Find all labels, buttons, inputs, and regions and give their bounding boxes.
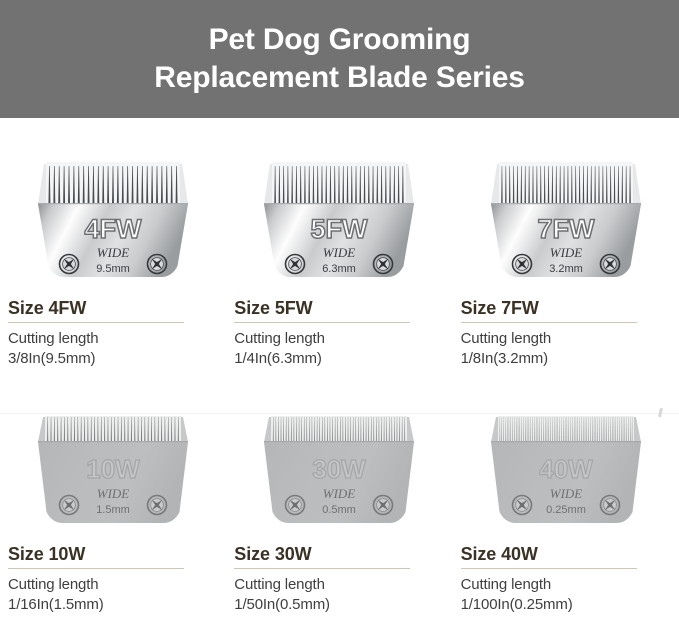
- blade-screw-icon: [60, 496, 79, 515]
- blade-teeth: [45, 416, 181, 441]
- product-caption-2: Size 7FW Cutting length 1/8In(3.2mm): [453, 298, 679, 368]
- blade-screw-icon: [148, 255, 167, 274]
- product-card-1[interactable]: 5FWWIDE6.3mm Size 5FW Cutting length 1/4…: [226, 152, 452, 368]
- blade-illustration-5FW: 5FWWIDE6.3mm: [254, 152, 424, 287]
- blade-engraving-mm: 0.5mm: [323, 504, 357, 516]
- product-row-bottom: 10WWIDE1.5mm Size 10W Cutting length 1/1…: [0, 398, 679, 614]
- product-card-2[interactable]: 7FWWIDE3.2mm Size 7FW Cutting length 1/8…: [453, 152, 679, 368]
- blade-image-3: 10WWIDE1.5mm: [28, 398, 198, 533]
- caption-divider-0: [8, 322, 184, 323]
- product-row-top: 4FWWIDE9.5mm Size 4FW Cutting length 3/8…: [0, 152, 679, 368]
- header-banner: Pet Dog Grooming Replacement Blade Serie…: [0, 0, 679, 118]
- blade-engraving-mm: 3.2mm: [549, 263, 583, 275]
- blade-engraving-mm: 9.5mm: [96, 263, 130, 275]
- cutting-length-label-2: Cutting length: [461, 329, 669, 349]
- cutting-length-value-1: 1/4In(6.3mm): [234, 349, 442, 369]
- blade-image-0: 4FWWIDE9.5mm: [28, 152, 198, 287]
- product-size-heading-3: Size 10W: [8, 544, 216, 568]
- product-caption-3: Size 10W Cutting length 1/16In(1.5mm): [0, 544, 226, 614]
- blade-engraving-size: 10W: [86, 454, 140, 484]
- cutting-length-label-3: Cutting length: [8, 575, 216, 595]
- blade-engraving-mm: 0.25mm: [546, 504, 586, 516]
- blade-screw-icon: [286, 255, 305, 274]
- blade-screw-icon: [286, 496, 305, 515]
- blade-teeth: [499, 162, 633, 203]
- product-caption-5: Size 40W Cutting length 1/100In(0.25mm): [453, 544, 679, 614]
- blade-engraving-wide: WIDE: [323, 486, 356, 501]
- caption-divider-4: [234, 568, 410, 569]
- product-caption-4: Size 30W Cutting length 1/50In(0.5mm): [226, 544, 452, 614]
- cutting-length-value-4: 1/50In(0.5mm): [234, 595, 442, 615]
- cutting-length-value-0: 3/8In(9.5mm): [8, 349, 216, 369]
- product-size-heading-1: Size 5FW: [234, 298, 442, 322]
- blade-screw-icon: [512, 496, 531, 515]
- blade-image-1: 5FWWIDE6.3mm: [254, 152, 424, 287]
- blade-screw-icon: [148, 496, 167, 515]
- product-caption-1: Size 5FW Cutting length 1/4In(6.3mm): [226, 298, 452, 368]
- blade-image-4: 30WWIDE0.5mm: [254, 398, 424, 533]
- cutting-length-value-3: 1/16In(1.5mm): [8, 595, 216, 615]
- blade-teeth: [272, 162, 406, 203]
- blade-teeth: [498, 416, 634, 441]
- caption-divider-5: [461, 568, 637, 569]
- product-card-5[interactable]: 40WWIDE0.25mm Size 40W Cutting length 1/…: [453, 398, 679, 614]
- blade-engraving-wide: WIDE: [549, 245, 582, 260]
- product-card-4[interactable]: 30WWIDE0.5mm Size 30W Cutting length 1/5…: [226, 398, 452, 614]
- blade-screw-icon: [600, 255, 619, 274]
- product-size-heading-4: Size 30W: [234, 544, 442, 568]
- blade-image-5: 40WWIDE0.25mm: [481, 398, 651, 533]
- cutting-length-label-0: Cutting length: [8, 329, 216, 349]
- blade-engraving-size: 5FW: [311, 214, 369, 244]
- blade-screw-icon: [512, 255, 531, 274]
- cutting-length-label-4: Cutting length: [234, 575, 442, 595]
- header-title-line-2: Replacement Blade Series: [154, 59, 524, 97]
- blade-engraving-size: 7FW: [537, 214, 595, 244]
- cutting-length-value-5: 1/100In(0.25mm): [461, 595, 669, 615]
- blade-illustration-30W: 30WWIDE0.5mm: [254, 398, 424, 533]
- cutting-length-label-1: Cutting length: [234, 329, 442, 349]
- blade-engraving-wide: WIDE: [323, 245, 356, 260]
- product-size-heading-5: Size 40W: [461, 544, 669, 568]
- blade-illustration-10W: 10WWIDE1.5mm: [28, 398, 198, 533]
- product-size-heading-0: Size 4FW: [8, 298, 216, 322]
- blade-engraving-size: 40W: [539, 454, 593, 484]
- blade-engraving-wide: WIDE: [549, 486, 582, 501]
- caption-divider-1: [234, 322, 410, 323]
- caption-divider-2: [461, 322, 637, 323]
- blade-illustration-4FW: 4FWWIDE9.5mm: [28, 152, 198, 287]
- blade-engraving-mm: 6.3mm: [323, 263, 357, 275]
- blade-engraving-wide: WIDE: [97, 486, 130, 501]
- product-card-3[interactable]: 10WWIDE1.5mm Size 10W Cutting length 1/1…: [0, 398, 226, 614]
- product-card-0[interactable]: 4FWWIDE9.5mm Size 4FW Cutting length 3/8…: [0, 152, 226, 368]
- blade-screw-icon: [600, 496, 619, 515]
- blade-engraving-mm: 1.5mm: [96, 504, 130, 516]
- blade-engraving-size: 4FW: [85, 214, 143, 244]
- blade-illustration-40W: 40WWIDE0.25mm: [481, 398, 651, 533]
- cutting-length-label-5: Cutting length: [461, 575, 669, 595]
- blade-screw-icon: [374, 496, 393, 515]
- blade-illustration-7FW: 7FWWIDE3.2mm: [481, 152, 651, 287]
- blade-teeth: [271, 416, 407, 441]
- cutting-length-value-2: 1/8In(3.2mm): [461, 349, 669, 369]
- product-caption-0: Size 4FW Cutting length 3/8In(9.5mm): [0, 298, 226, 368]
- blade-teeth: [46, 162, 180, 203]
- blade-screw-icon: [374, 255, 393, 274]
- caption-divider-3: [8, 568, 184, 569]
- header-title-line-1: Pet Dog Grooming: [209, 21, 471, 59]
- blade-image-2: 7FWWIDE3.2mm: [481, 152, 651, 287]
- blade-screw-icon: [60, 255, 79, 274]
- blade-engraving-wide: WIDE: [97, 245, 130, 260]
- blade-engraving-size: 30W: [313, 454, 367, 484]
- product-size-heading-2: Size 7FW: [461, 298, 669, 322]
